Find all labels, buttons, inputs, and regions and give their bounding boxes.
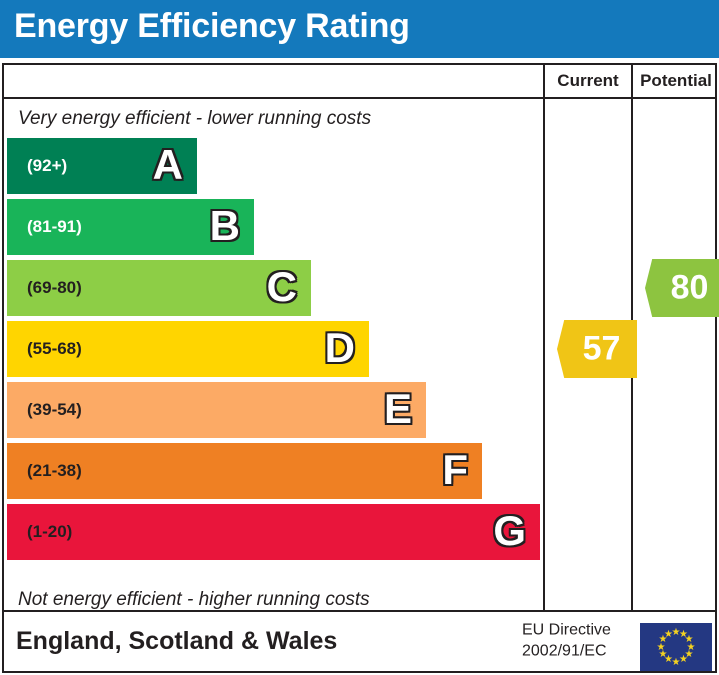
band-range-c: (69-80) xyxy=(27,278,82,298)
band-row-g: (1-20)G xyxy=(7,504,540,560)
directive-line-1: EU Directive xyxy=(522,619,611,641)
band-row-c: (69-80)C xyxy=(7,260,311,316)
band-letter-c: C xyxy=(267,266,297,308)
band-range-g: (1-20) xyxy=(27,522,72,542)
column-header-current: Current xyxy=(545,65,631,97)
current-rating-badge: 57 xyxy=(557,320,637,378)
band-letter-e: E xyxy=(384,388,412,430)
potential-rating-badge: 80 xyxy=(645,259,719,317)
band-row-b: (81-91)B xyxy=(7,199,254,255)
eu-flag-icon: ★★★★★★★★★★★★ xyxy=(640,623,712,671)
band-range-e: (39-54) xyxy=(27,400,82,420)
rating-table: Current Potential Very energy efficient … xyxy=(2,63,717,612)
band-row-e: (39-54)E xyxy=(7,382,426,438)
footer-bar: England, Scotland & Wales EU Directive 2… xyxy=(2,612,717,673)
potential-rating-badge-value: 80 xyxy=(645,270,719,304)
band-range-a: (92+) xyxy=(27,156,67,176)
band-row-f: (21-38)F xyxy=(7,443,482,499)
title-bar: Energy Efficiency Rating xyxy=(0,0,719,58)
column-divider-current xyxy=(543,65,545,610)
band-letter-g: G xyxy=(493,510,526,552)
band-range-d: (55-68) xyxy=(27,339,82,359)
band-letter-d: D xyxy=(325,327,355,369)
footer-directive-label: EU Directive 2002/91/EC xyxy=(522,619,611,662)
directive-line-2: 2002/91/EC xyxy=(522,641,611,663)
band-list: (92+)A(81-91)B(69-80)C(55-68)D(39-54)E(2… xyxy=(4,65,541,610)
band-letter-a: A xyxy=(153,144,183,186)
eu-star-icon: ★ xyxy=(664,630,673,639)
current-rating-badge-value: 57 xyxy=(557,331,637,365)
energy-efficiency-rating-chart: Energy Efficiency Rating Current Potenti… xyxy=(0,0,719,675)
band-row-d: (55-68)D xyxy=(7,321,369,377)
band-range-f: (21-38) xyxy=(27,461,82,481)
band-letter-f: F xyxy=(442,449,468,491)
page-title: Energy Efficiency Rating xyxy=(14,7,410,46)
footer-region-label: England, Scotland & Wales xyxy=(16,626,337,655)
column-header-potential: Potential xyxy=(633,65,719,97)
band-row-a: (92+)A xyxy=(7,138,197,194)
band-range-b: (81-91) xyxy=(27,217,82,237)
band-letter-b: B xyxy=(210,205,240,247)
